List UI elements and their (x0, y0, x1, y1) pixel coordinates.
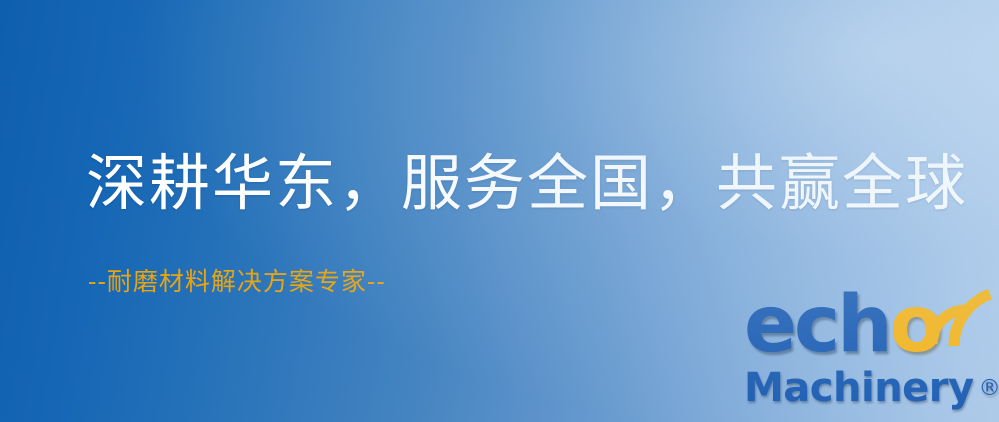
logo-machinery-text: Machinery® (744, 368, 999, 408)
logo-machinery-label: Machinery (744, 365, 974, 411)
banner-headline: 深耕华东，服务全国，共赢全球 (86, 152, 968, 216)
logo-wordmark: echo (742, 292, 997, 372)
logo-echo-prefix: ech (744, 280, 890, 370)
logo-echo-text: echo (744, 286, 940, 364)
company-logo[interactable]: echo Machinery® (742, 292, 997, 420)
signal-waves-icon (918, 288, 998, 350)
registered-trademark-icon: ® (979, 376, 999, 401)
hero-banner: 深耕华东，服务全国，共赢全球 --耐磨材料解决方案专家-- echo Machi… (0, 0, 999, 422)
banner-subtitle: --耐磨材料解决方案专家-- (88, 268, 386, 296)
